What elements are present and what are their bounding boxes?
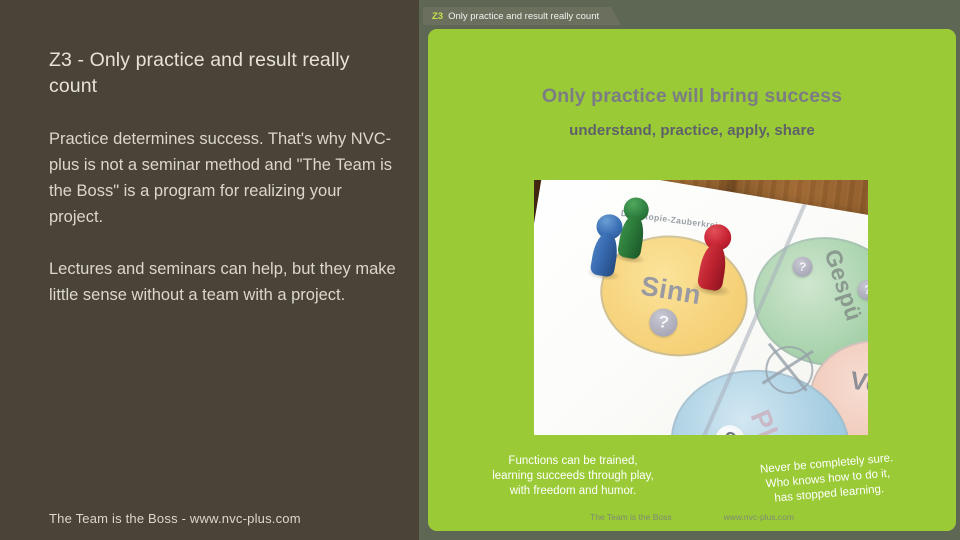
- notes-footer: The Team is the Boss - www.nvc-plus.com: [49, 511, 301, 526]
- slide-tab-title: Only practice and result really count: [448, 11, 599, 22]
- notes-paragraph: Practice determines success. That's why …: [49, 126, 397, 230]
- notes-pane: Z3 - Only practice and result really cou…: [0, 0, 419, 540]
- slide-panel: Z3 Only practice and result really count…: [419, 0, 960, 540]
- lobe-label-ve: Ve: [848, 366, 868, 400]
- notes-title: Z3 - Only practice and result really cou…: [49, 47, 379, 99]
- slide-subheading: understand, practice, apply, share: [428, 122, 956, 139]
- cross-arrow-icon: [755, 335, 819, 399]
- game-sheet: Der Utopie-Zauberkreis Sinn Gespü Plan V: [534, 180, 868, 435]
- slide-tab-badge: Z3: [432, 11, 443, 22]
- slide-heading: Only practice will bring success: [428, 85, 956, 108]
- pawn-body: [589, 231, 620, 277]
- slide-footer-left: The Team is the Boss: [590, 512, 672, 522]
- notes-paragraph: Lectures and seminars can help, but they…: [49, 256, 397, 308]
- notes-body: Practice determines success. That's why …: [49, 126, 397, 334]
- game-sheet-inner: Der Utopie-Zauberkreis Sinn Gespü Plan V: [534, 180, 868, 435]
- slide-card: Only practice will bring success underst…: [428, 29, 956, 531]
- slide-tab[interactable]: Z3 Only practice and result really count: [423, 7, 621, 25]
- caption-right: Never be completely sure. Who knows how …: [726, 448, 929, 510]
- board-game-photo: Der Utopie-Zauberkreis Sinn Gespü Plan V: [534, 180, 868, 435]
- caption-left: Functions can be trained, learning succe…: [478, 454, 668, 499]
- slide-footer-right: www.nvc-plus.com: [724, 512, 794, 522]
- slide-footer: The Team is the Boss www.nvc-plus.com: [428, 512, 956, 522]
- pawn-body: [697, 242, 729, 291]
